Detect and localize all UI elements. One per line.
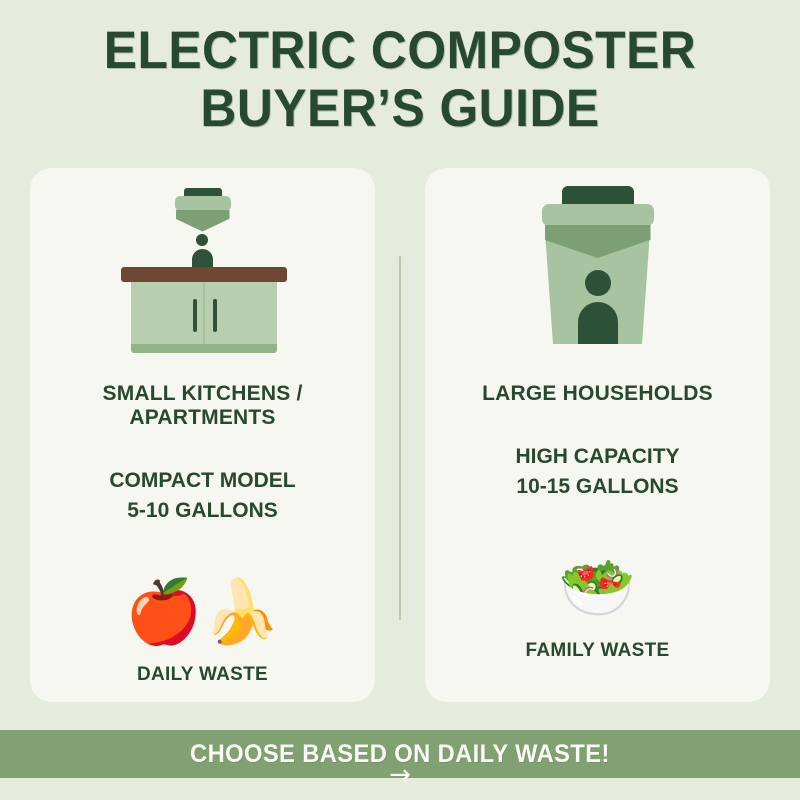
large-composter-bin-icon [425, 168, 770, 380]
cabinet-door-split [203, 282, 205, 344]
card-footer-label: FAMILY WASTE [525, 640, 669, 662]
card-large-households[interactable]: LARGE HOUSEHOLDS HIGH CAPACITY 10-15 GAL… [425, 168, 770, 702]
bin-arch-detail [578, 302, 618, 344]
arrow-right-icon: → [0, 762, 800, 788]
infographic-poster: ELECTRIC COMPOSTER BUYER’S GUIDE [0, 0, 800, 800]
cabinet-base [131, 344, 277, 353]
card-spec: COMPACT MODEL 5-10 GALLONS [109, 466, 295, 526]
card-spec: HIGH CAPACITY 10-15 GALLONS [515, 442, 679, 502]
card-capacity-label: 5-10 GALLONS [109, 496, 295, 526]
countertop [121, 267, 287, 282]
food-scraps-icon: 🍎🍌 [125, 566, 279, 658]
title-line-2: BUYER’S GUIDE [24, 80, 776, 138]
bin-button-icon [585, 270, 611, 296]
composter-button-icon [196, 234, 208, 246]
cabinet-handle-left [193, 299, 197, 332]
composter-lid [175, 196, 231, 211]
salad-bowl-icon: 🥗 [559, 542, 636, 634]
compact-composter-on-counter-icon [30, 168, 375, 380]
card-model-label: HIGH CAPACITY [515, 442, 679, 472]
card-small-kitchens[interactable]: SMALL KITCHENS / APARTMENTS COMPACT MODE… [30, 168, 375, 702]
card-heading: SMALL KITCHENS / APARTMENTS [30, 382, 375, 430]
composter-shoulder-band [176, 210, 230, 232]
page-title: ELECTRIC COMPOSTER BUYER’S GUIDE [0, 22, 800, 138]
title-line-1: ELECTRIC COMPOSTER [24, 22, 776, 80]
bin-lid-handle [562, 186, 634, 206]
food-scraps-emoji: 🍎🍌 [125, 577, 279, 647]
card-footer-label: DAILY WASTE [137, 664, 268, 686]
salad-bowl-emoji: 🥗 [559, 553, 636, 623]
cabinet-handle-right [213, 299, 217, 332]
card-capacity-label: 10-15 GALLONS [515, 472, 679, 502]
card-heading: LARGE HOUSEHOLDS [482, 382, 713, 406]
bin-lid [542, 204, 654, 226]
card-model-label: COMPACT MODEL [109, 466, 295, 496]
card-divider [399, 256, 401, 620]
